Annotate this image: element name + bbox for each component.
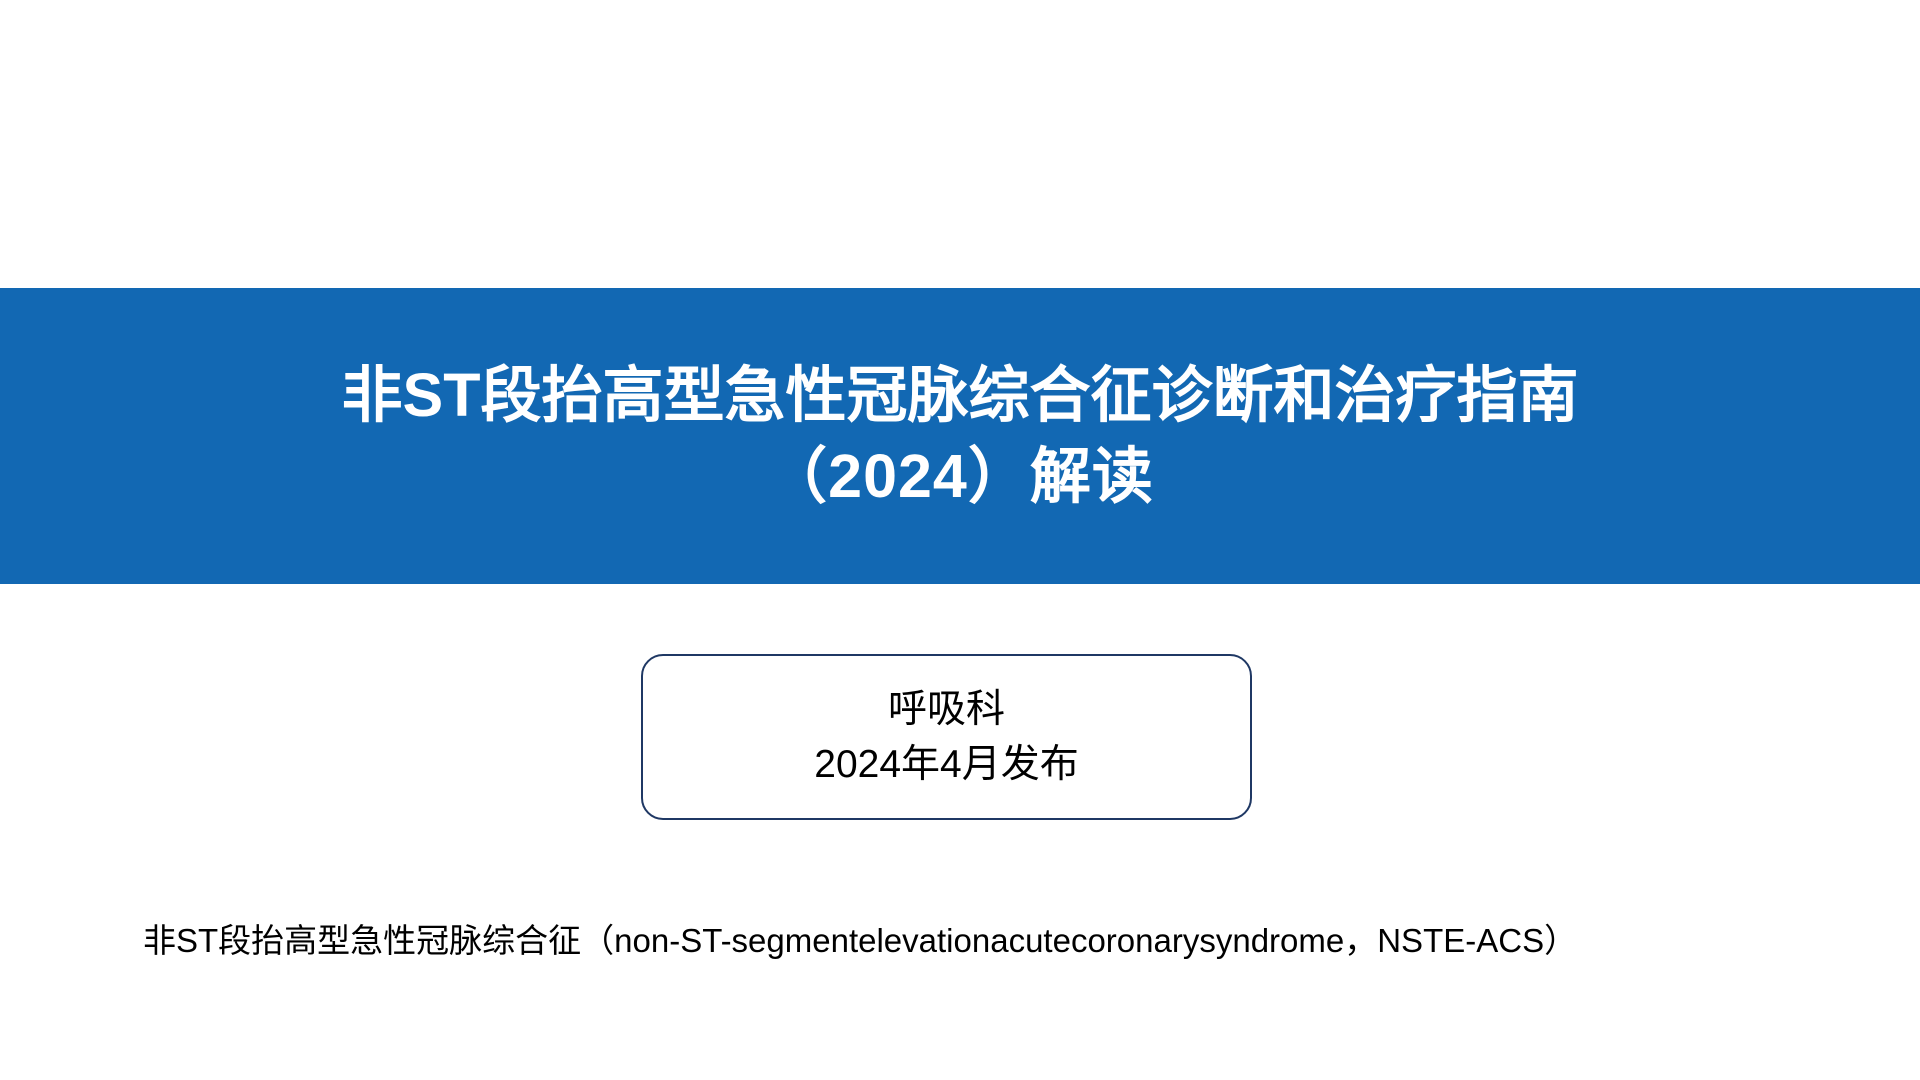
presenter-info-box: 呼吸科 2024年4月发布: [641, 654, 1252, 820]
slide-title-line-1: 非ST段抬高型急性冠脉综合征诊断和治疗指南: [342, 355, 1579, 436]
title-banner: 非ST段抬高型急性冠脉综合征诊断和治疗指南 （2024）解读: [0, 288, 1920, 584]
department-label: 呼吸科: [888, 682, 1005, 737]
slide-title-line-2: （2024）解读: [766, 436, 1154, 517]
presentation-slide: 非ST段抬高型急性冠脉综合征诊断和治疗指南 （2024）解读 呼吸科 2024年…: [0, 0, 1920, 1080]
publish-date-label: 2024年4月发布: [814, 737, 1078, 792]
slide-footnote-caption: 非ST段抬高型急性冠脉综合征（non-ST-segmentelevationac…: [143, 918, 1823, 964]
